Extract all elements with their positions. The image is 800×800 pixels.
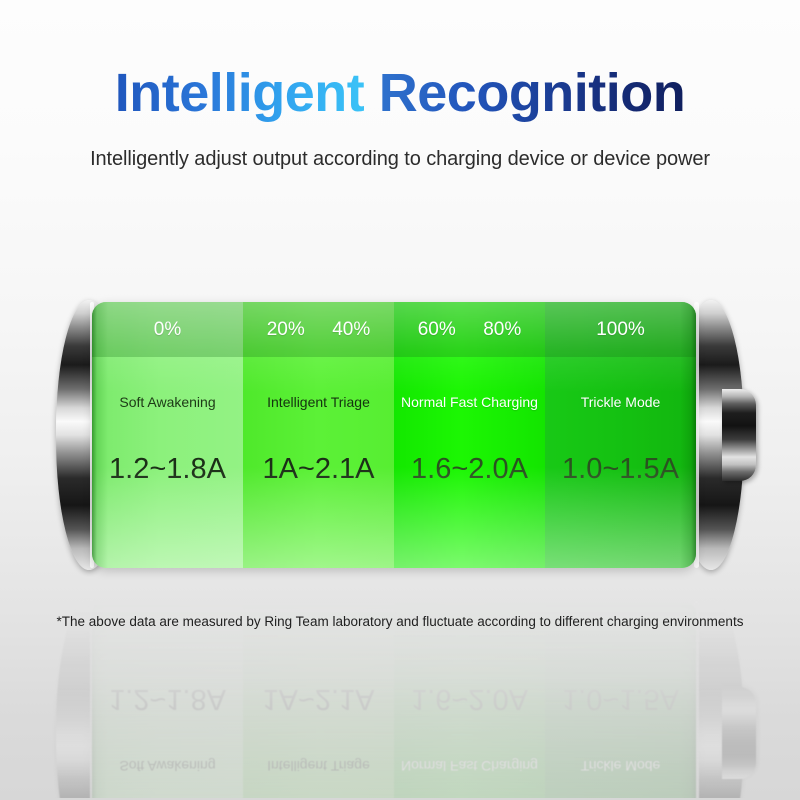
segment-1-percent-band: 0%: [92, 302, 243, 357]
segment-2-current-value: 1A~2.1A: [243, 683, 394, 715]
battery-rim-shading: [92, 600, 696, 798]
segment-2-content: Intelligent Triage 1A~2.1A: [243, 600, 394, 798]
segment-1-content: Soft Awakening 1.2~1.8A: [92, 600, 243, 798]
segment-4-content: Trickle Mode 1.0~1.5A: [545, 357, 696, 568]
percent-label: 80%: [483, 320, 521, 339]
segment-4-current-value: 1.0~1.5A: [545, 453, 696, 485]
segment-3-content: Normal Fast Charging 1.6~2.0A: [394, 600, 545, 798]
page-title: Intelligent Recognition: [0, 62, 800, 124]
percent-label: 0%: [154, 320, 181, 339]
battery-body: 0% Soft Awakening 1.2~1.8A 20% 40% Intel…: [92, 302, 696, 568]
segment-2-content: Intelligent Triage 1A~2.1A: [243, 357, 394, 568]
segment-4-mode-label: Trickle Mode: [545, 758, 696, 774]
battery-segment-intelligent-triage: 20% 40% Intelligent Triage 1A~2.1A: [243, 302, 394, 568]
segment-2-mode-label: Intelligent Triage: [243, 758, 394, 774]
page-subtitle: Intelligently adjust output according to…: [0, 148, 800, 171]
page-title-word-recognition: Recognition: [379, 63, 685, 123]
battery-segment-normal-fast-charging: 60% 80% Normal Fast Charging 1.6~2.0A: [394, 600, 545, 798]
battery-segment-list: 0% Soft Awakening 1.2~1.8A 20% 40% Intel…: [92, 600, 696, 798]
segment-3-content: Normal Fast Charging 1.6~2.0A: [394, 357, 545, 568]
segment-1-content: Soft Awakening 1.2~1.8A: [92, 357, 243, 568]
battery-segment-normal-fast-charging: 60% 80% Normal Fast Charging 1.6~2.0A: [394, 302, 545, 568]
segment-4-current-value: 1.0~1.5A: [545, 683, 696, 715]
page-title-word-intelligent: Intelligent: [115, 63, 365, 123]
battery-edge-highlight-right: [694, 600, 699, 798]
segment-4-mode-label: Trickle Mode: [545, 394, 696, 410]
segment-3-current-value: 1.6~2.0A: [394, 683, 545, 715]
battery-segment-intelligent-triage: 20% 40% Intelligent Triage 1A~2.1A: [243, 600, 394, 798]
battery-edge-highlight-left: [90, 600, 94, 798]
battery-segment-trickle-mode: 100% Trickle Mode 1.0~1.5A: [545, 302, 696, 568]
battery-segment-list: 0% Soft Awakening 1.2~1.8A 20% 40% Intel…: [92, 302, 696, 568]
percent-label: 40%: [332, 320, 370, 339]
segment-2-current-value: 1A~2.1A: [243, 453, 394, 485]
segment-3-percent-band: 60% 80%: [394, 302, 545, 357]
battery-segment-soft-awakening: 0% Soft Awakening 1.2~1.8A: [92, 600, 243, 798]
battery-positive-terminal: [722, 389, 756, 481]
segment-1-current-value: 1.2~1.8A: [92, 683, 243, 715]
battery-segment-trickle-mode: 100% Trickle Mode 1.0~1.5A: [545, 600, 696, 798]
segment-3-current-value: 1.6~2.0A: [394, 453, 545, 485]
segment-1-mode-label: Soft Awakening: [92, 394, 243, 410]
percent-label: 60%: [418, 320, 456, 339]
battery-graphic: 0% Soft Awakening 1.2~1.8A 20% 40% Intel…: [0, 290, 800, 580]
battery-segment-soft-awakening: 0% Soft Awakening 1.2~1.8A: [92, 302, 243, 568]
infographic-page: Intelligent Recognition Intelligently ad…: [0, 0, 800, 800]
segment-2-mode-label: Intelligent Triage: [243, 394, 394, 410]
battery-body: 0% Soft Awakening 1.2~1.8A 20% 40% Intel…: [92, 600, 696, 798]
segment-4-content: Trickle Mode 1.0~1.5A: [545, 600, 696, 798]
battery-positive-terminal: [722, 687, 756, 779]
segment-3-mode-label: Normal Fast Charging: [394, 758, 545, 774]
segment-3-mode-label: Normal Fast Charging: [394, 394, 545, 410]
percent-label: 100%: [596, 320, 645, 339]
segment-4-percent-band: 100%: [545, 302, 696, 357]
segment-2-percent-band: 20% 40%: [243, 302, 394, 357]
battery-gloss-overlay: [92, 600, 696, 798]
footnote-disclaimer: *The above data are measured by Ring Tea…: [0, 614, 800, 629]
percent-label: 20%: [267, 320, 305, 339]
segment-1-current-value: 1.2~1.8A: [92, 453, 243, 485]
segment-1-mode-label: Soft Awakening: [92, 758, 243, 774]
